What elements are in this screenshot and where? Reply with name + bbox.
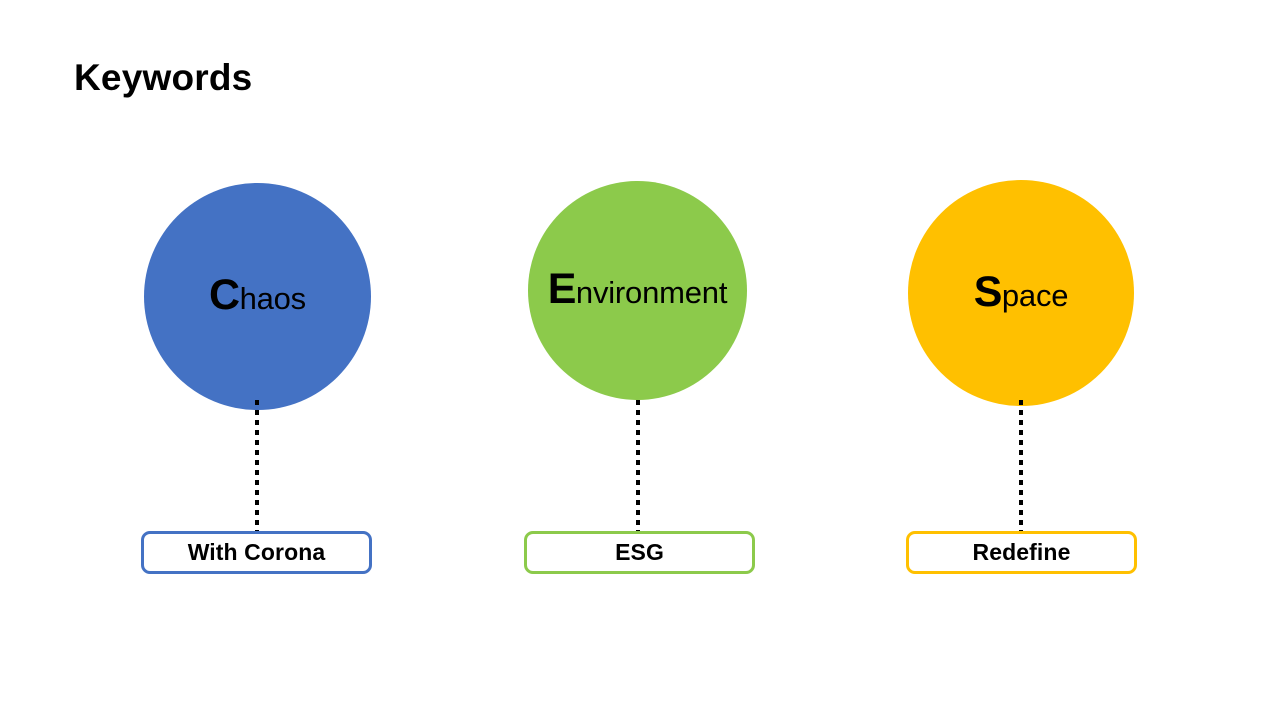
bubble-label-space: Space [974, 271, 1069, 314]
bubble-rest-environment: nvironment [576, 275, 727, 310]
bubble-space[interactable]: Space [908, 180, 1134, 406]
caption-box-environment[interactable]: ESG [524, 531, 755, 574]
connector-space [1019, 400, 1023, 534]
caption-box-space[interactable]: Redefine [906, 531, 1137, 574]
bubble-initial-space: S [974, 268, 1002, 316]
bubble-environment[interactable]: Environment [528, 181, 747, 400]
bubble-rest-space: pace [1002, 278, 1068, 313]
bubble-label-environment: Environment [548, 268, 728, 311]
keyword-group-space: Space Redefine [0, 0, 260, 720]
slide-canvas: Keywords Chaos With Corona Environment E… [0, 0, 1280, 720]
bubble-initial-environment: E [548, 265, 576, 313]
connector-environment [636, 400, 640, 534]
